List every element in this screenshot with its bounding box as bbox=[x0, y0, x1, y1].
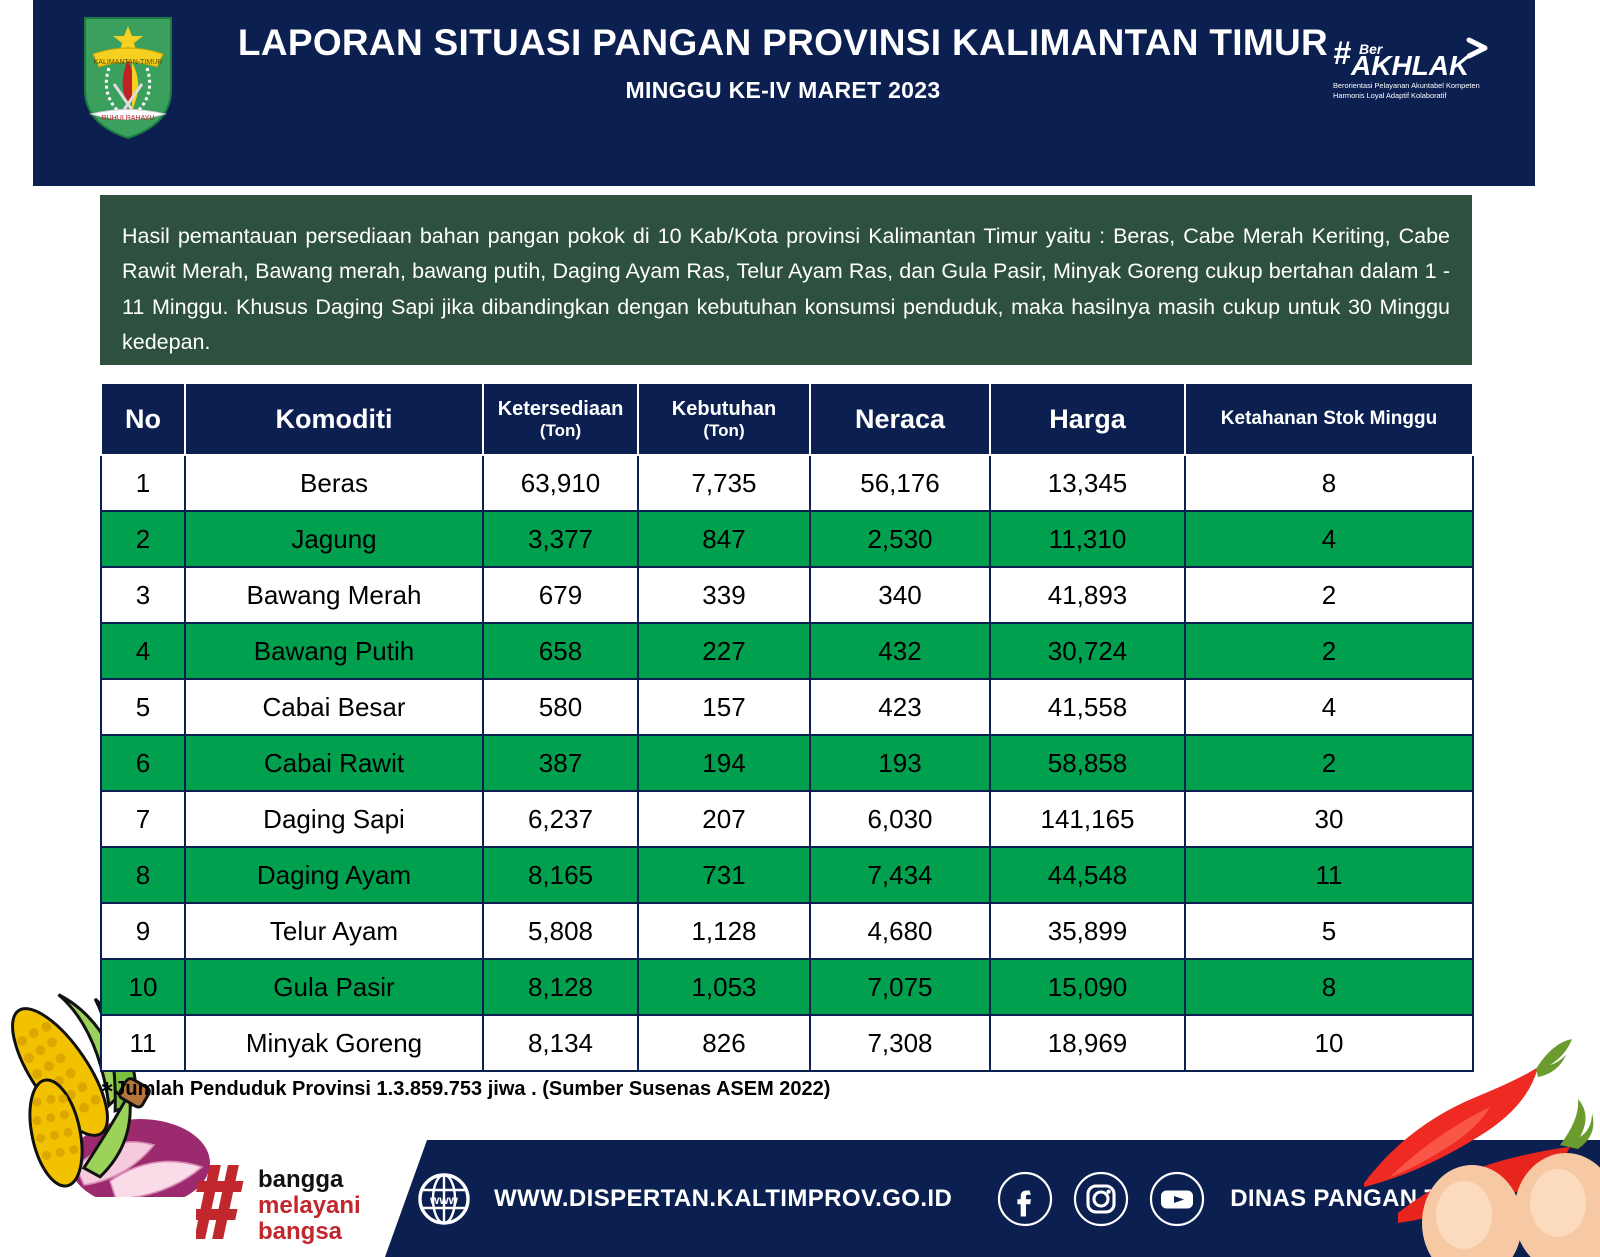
cell-komoditi: Bawang Putih bbox=[185, 623, 483, 679]
cell-no: 8 bbox=[101, 847, 185, 903]
cell-neraca: 6,030 bbox=[810, 791, 990, 847]
column-header-kebutuhan: Kebutuhan (Ton) bbox=[638, 383, 810, 455]
cell-ketersediaan: 3,377 bbox=[483, 511, 638, 567]
cell-neraca: 193 bbox=[810, 735, 990, 791]
cell-harga: 44,548 bbox=[990, 847, 1185, 903]
svg-text:Harmonis Loyal Adaptif Kolabor: Harmonis Loyal Adaptif Kolaboratif bbox=[1333, 91, 1447, 100]
cell-ketersediaan: 658 bbox=[483, 623, 638, 679]
cell-ketersediaan: 8,134 bbox=[483, 1015, 638, 1071]
cell-harga: 141,165 bbox=[990, 791, 1185, 847]
cell-kebutuhan: 731 bbox=[638, 847, 810, 903]
cell-harga: 13,345 bbox=[990, 455, 1185, 511]
footnote-text: Jumlah Penduduk Provinsi 1.3.859.753 jiw… bbox=[114, 1078, 830, 1100]
cell-neraca: 56,176 bbox=[810, 455, 990, 511]
youtube-icon[interactable] bbox=[1148, 1170, 1206, 1228]
cell-harga: 58,858 bbox=[990, 735, 1185, 791]
cell-ketahanan: 11 bbox=[1185, 847, 1473, 903]
summary-text: Hasil pemantauan persediaan bahan pangan… bbox=[122, 219, 1450, 361]
cell-ketersediaan: 387 bbox=[483, 735, 638, 791]
cell-komoditi: Bawang Merah bbox=[185, 567, 483, 623]
cell-harga: 15,090 bbox=[990, 959, 1185, 1015]
column-header-kebutuhan-label: Kebutuhan bbox=[672, 398, 776, 420]
table-row: 9Telur Ayam5,8081,1284,68035,8995 bbox=[101, 903, 1473, 959]
cell-kebutuhan: 1,128 bbox=[638, 903, 810, 959]
cell-no: 5 bbox=[101, 679, 185, 735]
cell-no: 1 bbox=[101, 455, 185, 511]
column-header-harga: Harga bbox=[990, 383, 1185, 455]
column-header-kebutuhan-unit: (Ton) bbox=[643, 421, 805, 440]
cell-kebutuhan: 847 bbox=[638, 511, 810, 567]
cell-harga: 35,899 bbox=[990, 903, 1185, 959]
social-links-group bbox=[996, 1170, 1206, 1228]
cell-neraca: 7,308 bbox=[810, 1015, 990, 1071]
page-footer: bangga melayani bangsa www WWW.DISPERTAN… bbox=[0, 1140, 1600, 1257]
cell-ketersediaan: 8,165 bbox=[483, 847, 638, 903]
cell-kebutuhan: 227 bbox=[638, 623, 810, 679]
cell-neraca: 2,530 bbox=[810, 511, 990, 567]
cell-neraca: 432 bbox=[810, 623, 990, 679]
cell-no: 11 bbox=[101, 1015, 185, 1071]
globe-www-icon: www bbox=[416, 1171, 472, 1227]
column-header-ketahanan: Ketahanan Stok Minggu bbox=[1185, 383, 1473, 455]
cell-ketersediaan: 580 bbox=[483, 679, 638, 735]
table-row: 11Minyak Goreng8,1348267,30818,96910 bbox=[101, 1015, 1473, 1071]
table-row: 5Cabai Besar58015742341,5584 bbox=[101, 679, 1473, 735]
cell-no: 2 bbox=[101, 511, 185, 567]
cell-komoditi: Beras bbox=[185, 455, 483, 511]
cell-komoditi: Gula Pasir bbox=[185, 959, 483, 1015]
cell-ketahanan: 4 bbox=[1185, 679, 1473, 735]
page-subtitle: MINGGU KE-IV MARET 2023 bbox=[223, 77, 1343, 104]
cell-ketersediaan: 5,808 bbox=[483, 903, 638, 959]
column-header-neraca: Neraca bbox=[810, 383, 990, 455]
cell-ketahanan: 2 bbox=[1185, 623, 1473, 679]
cell-kebutuhan: 339 bbox=[638, 567, 810, 623]
cell-ketahanan: 30 bbox=[1185, 791, 1473, 847]
cell-no: 10 bbox=[101, 959, 185, 1015]
cell-ketahanan: 2 bbox=[1185, 735, 1473, 791]
svg-text:Berorientasi Pelayanan Akuntab: Berorientasi Pelayanan Akuntabel Kompete… bbox=[1333, 81, 1480, 90]
cell-no: 3 bbox=[101, 567, 185, 623]
cell-kebutuhan: 1,053 bbox=[638, 959, 810, 1015]
cell-komoditi: Daging Sapi bbox=[185, 791, 483, 847]
cell-ketahanan: 4 bbox=[1185, 511, 1473, 567]
cell-komoditi: Daging Ayam bbox=[185, 847, 483, 903]
cell-ketahanan: 2 bbox=[1185, 567, 1473, 623]
column-header-ketersediaan-unit: (Ton) bbox=[488, 421, 633, 440]
table-row: 10Gula Pasir8,1281,0537,07515,0908 bbox=[101, 959, 1473, 1015]
cell-harga: 30,724 bbox=[990, 623, 1185, 679]
svg-text:www: www bbox=[429, 1193, 459, 1207]
footnote-star-icon: ∗ bbox=[100, 1078, 114, 1097]
page-title: LAPORAN SITUASI PANGAN PROVINSI KALIMANT… bbox=[223, 22, 1343, 65]
table-body: 1Beras63,9107,73556,17613,34582Jagung3,3… bbox=[101, 455, 1473, 1071]
svg-text:#: # bbox=[1333, 35, 1351, 71]
cell-no: 6 bbox=[101, 735, 185, 791]
summary-box: Hasil pemantauan persediaan bahan pangan… bbox=[100, 195, 1472, 365]
cell-kebutuhan: 207 bbox=[638, 791, 810, 847]
table-row: 6Cabai Rawit38719419358,8582 bbox=[101, 735, 1473, 791]
cell-harga: 18,969 bbox=[990, 1015, 1185, 1071]
cell-neraca: 340 bbox=[810, 567, 990, 623]
table-row: 7Daging Sapi6,2372076,030141,16530 bbox=[101, 791, 1473, 847]
cell-neraca: 7,075 bbox=[810, 959, 990, 1015]
table-row: 2Jagung3,3778472,53011,3104 bbox=[101, 511, 1473, 567]
table-row: 8Daging Ayam8,1657317,43444,54811 bbox=[101, 847, 1473, 903]
column-header-no: No bbox=[101, 383, 185, 455]
cell-komoditi: Jagung bbox=[185, 511, 483, 567]
cell-harga: 11,310 bbox=[990, 511, 1185, 567]
cell-ketersediaan: 8,128 bbox=[483, 959, 638, 1015]
header-text-block: LAPORAN SITUASI PANGAN PROVINSI KALIMANT… bbox=[223, 22, 1343, 104]
facebook-icon[interactable] bbox=[996, 1170, 1054, 1228]
column-header-komoditi: Komoditi bbox=[185, 383, 483, 455]
cell-ketahanan: 8 bbox=[1185, 455, 1473, 511]
cell-neraca: 7,434 bbox=[810, 847, 990, 903]
cell-komoditi: Cabai Rawit bbox=[185, 735, 483, 791]
svg-text:RUHUI RAHAYU: RUHUI RAHAYU bbox=[102, 115, 155, 122]
cell-ketersediaan: 679 bbox=[483, 567, 638, 623]
svg-text:bangsa: bangsa bbox=[258, 1218, 343, 1245]
bangga-melayani-bangsa-logo-icon: bangga melayani bangsa bbox=[196, 1155, 376, 1247]
cell-komoditi: Telur Ayam bbox=[185, 903, 483, 959]
svg-text:melayani: melayani bbox=[258, 1192, 361, 1219]
cell-no: 4 bbox=[101, 623, 185, 679]
cell-ketahanan: 8 bbox=[1185, 959, 1473, 1015]
cell-kebutuhan: 194 bbox=[638, 735, 810, 791]
cell-ketahanan: 10 bbox=[1185, 1015, 1473, 1071]
column-header-ketersediaan-label: Ketersediaan bbox=[498, 398, 624, 420]
cell-kebutuhan: 157 bbox=[638, 679, 810, 735]
infographic-page: KALIMANTAN-TIMUR RUHUI RAHAYU LAPORAN SI… bbox=[0, 0, 1600, 1257]
population-footnote: ∗Jumlah Penduduk Provinsi 1.3.859.753 ji… bbox=[100, 1078, 830, 1101]
svg-text:AKHLAK: AKHLAK bbox=[1350, 50, 1471, 81]
commodity-table: No Komoditi Ketersediaan (Ton) Kebutuhan… bbox=[100, 382, 1474, 1072]
table-row: 3Bawang Merah67933934041,8932 bbox=[101, 567, 1473, 623]
cell-neraca: 4,680 bbox=[810, 903, 990, 959]
cell-ketahanan: 5 bbox=[1185, 903, 1473, 959]
kalimantan-timur-emblem-icon: KALIMANTAN-TIMUR RUHUI RAHAYU bbox=[69, 10, 187, 142]
website-url-text[interactable]: WWW.DISPERTAN.KALTIMPROV.GO.ID bbox=[494, 1185, 952, 1213]
table-row: 4Bawang Putih65822743230,7242 bbox=[101, 623, 1473, 679]
cell-harga: 41,893 bbox=[990, 567, 1185, 623]
svg-text:bangga: bangga bbox=[258, 1166, 344, 1193]
berakhlak-logo-icon: # Ber AKHLAK Berorientasi Pelayanan Akun… bbox=[1329, 28, 1497, 102]
commodity-table-container: No Komoditi Ketersediaan (Ton) Kebutuhan… bbox=[100, 382, 1472, 1072]
cell-ketersediaan: 6,237 bbox=[483, 791, 638, 847]
column-header-ketersediaan: Ketersediaan (Ton) bbox=[483, 383, 638, 455]
cell-kebutuhan: 7,735 bbox=[638, 455, 810, 511]
cell-komoditi: Cabai Besar bbox=[185, 679, 483, 735]
table-row: 1Beras63,9107,73556,17613,3458 bbox=[101, 455, 1473, 511]
page-header: KALIMANTAN-TIMUR RUHUI RAHAYU LAPORAN SI… bbox=[33, 0, 1535, 186]
cell-kebutuhan: 826 bbox=[638, 1015, 810, 1071]
table-header-row: No Komoditi Ketersediaan (Ton) Kebutuhan… bbox=[101, 383, 1473, 455]
cell-no: 9 bbox=[101, 903, 185, 959]
organization-name-text: DINAS PANGAN TPH bbox=[1230, 1185, 1473, 1213]
cell-harga: 41,558 bbox=[990, 679, 1185, 735]
instagram-icon[interactable] bbox=[1072, 1170, 1130, 1228]
cell-no: 7 bbox=[101, 791, 185, 847]
footer-content: www WWW.DISPERTAN.KALTIMPROV.GO.ID bbox=[408, 1140, 1473, 1257]
cell-neraca: 423 bbox=[810, 679, 990, 735]
cell-ketersediaan: 63,910 bbox=[483, 455, 638, 511]
cell-komoditi: Minyak Goreng bbox=[185, 1015, 483, 1071]
